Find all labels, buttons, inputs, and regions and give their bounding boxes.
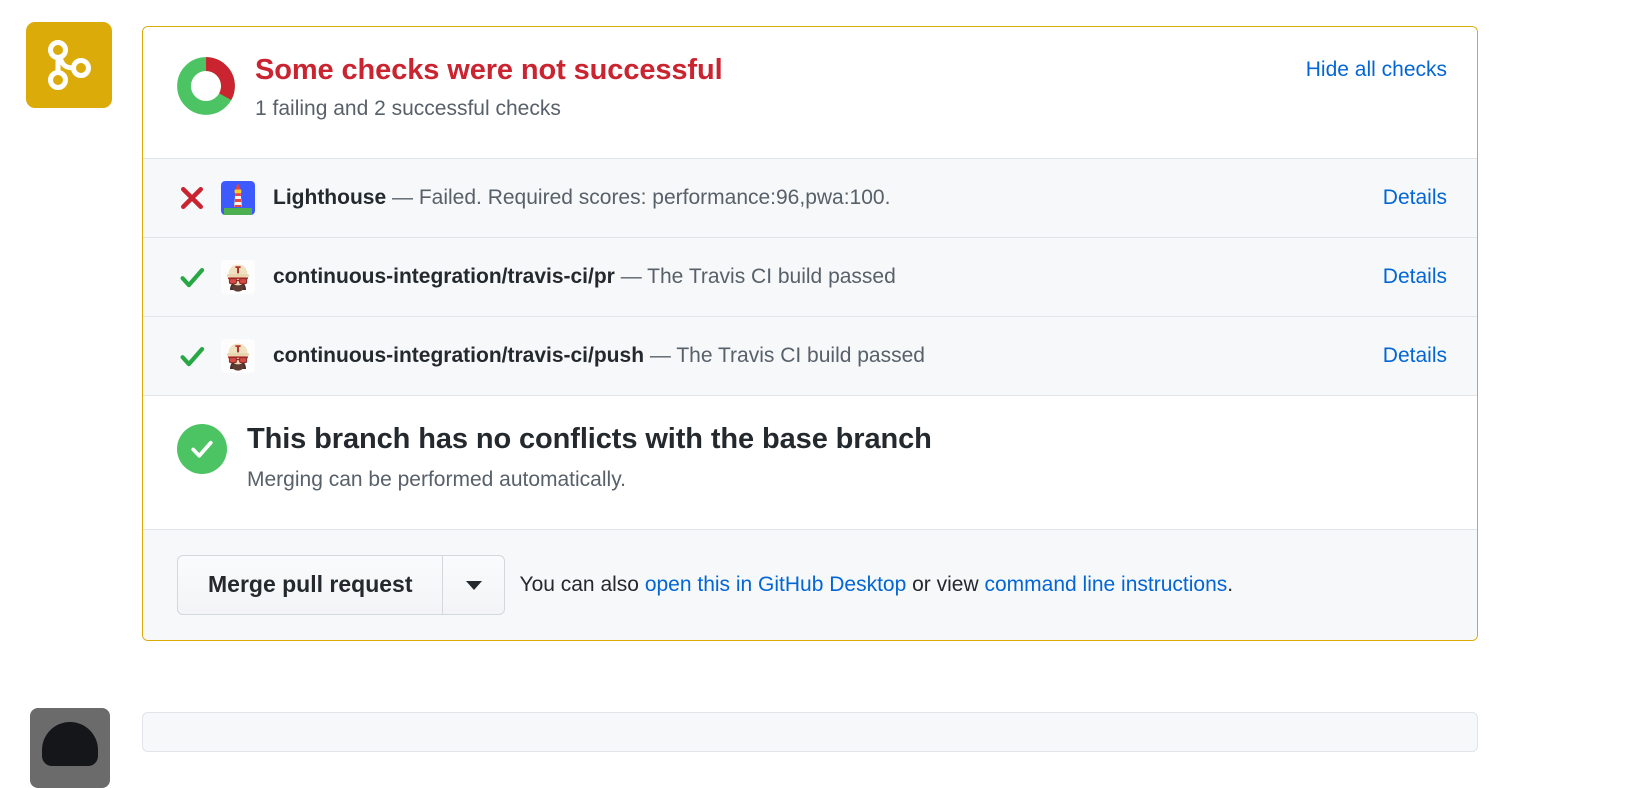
check-row: continuous-integration/travis-ci/push — …	[143, 317, 1477, 396]
conflicts-subtitle: Merging can be performed automatically.	[247, 467, 1447, 492]
donut-chart-icon	[177, 57, 235, 120]
check-details-link[interactable]: Details	[1383, 265, 1447, 289]
merge-pull-request-button[interactable]: Merge pull request	[177, 555, 443, 615]
check-row: continuous-integration/travis-ci/pr — Th…	[143, 238, 1477, 317]
command-line-instructions-link[interactable]: command line instructions	[984, 573, 1227, 596]
check-description: The Travis CI build passed	[676, 344, 925, 367]
lighthouse-avatar-icon	[221, 181, 255, 215]
branch-conflicts-section: This branch has no conflicts with the ba…	[143, 396, 1477, 530]
check-separator: —	[621, 265, 642, 288]
merge-alternatives-note: You can also open this in GitHub Desktop…	[519, 572, 1233, 598]
check-name: continuous-integration/travis-ci/push	[273, 344, 644, 367]
checks-status-subtitle: 1 failing and 2 successful checks	[255, 96, 1282, 121]
check-name: Lighthouse	[273, 186, 386, 209]
check-description: The Travis CI build passed	[647, 265, 896, 288]
next-comment-box	[142, 712, 1478, 752]
note-suffix: .	[1227, 573, 1233, 596]
merge-method-dropdown-button[interactable]	[443, 555, 505, 615]
check-description: Failed. Required scores: performance:96,…	[419, 186, 891, 209]
check-summary: Lighthouse — Failed. Required scores: pe…	[273, 185, 1359, 211]
conflicts-title: This branch has no conflicts with the ba…	[247, 422, 1447, 457]
checks-status-title: Some checks were not successful	[255, 53, 1282, 87]
git-pull-request-badge	[26, 22, 112, 108]
check-icon	[177, 262, 221, 292]
check-separator: —	[392, 186, 413, 209]
avatar-image	[42, 722, 98, 766]
open-in-github-desktop-link[interactable]: open this in GitHub Desktop	[645, 573, 906, 596]
x-icon	[177, 183, 221, 213]
merge-button-group: Merge pull request	[177, 555, 505, 615]
check-summary: continuous-integration/travis-ci/push — …	[273, 343, 1359, 369]
checks-header: Some checks were not successful 1 failin…	[143, 27, 1477, 159]
check-icon	[177, 341, 221, 371]
avatar[interactable]	[30, 708, 110, 788]
merge-status-box: Some checks were not successful 1 failin…	[142, 26, 1478, 641]
travis-ci-avatar-icon	[221, 260, 255, 294]
git-pull-request-icon	[45, 39, 93, 91]
check-circle-filled-icon	[177, 424, 227, 474]
check-row: Lighthouse — Failed. Required scores: pe…	[143, 159, 1477, 238]
merge-action-footer: Merge pull request You can also open thi…	[143, 530, 1477, 640]
check-separator: —	[650, 344, 671, 367]
check-name: continuous-integration/travis-ci/pr	[273, 265, 615, 288]
note-middle: or view	[906, 573, 984, 596]
check-details-link[interactable]: Details	[1383, 344, 1447, 368]
check-details-link[interactable]: Details	[1383, 186, 1447, 210]
hide-all-checks-link[interactable]: Hide all checks	[1306, 58, 1447, 82]
chevron-down-icon	[466, 581, 482, 590]
note-prefix: You can also	[519, 573, 644, 596]
check-summary: continuous-integration/travis-ci/pr — Th…	[273, 264, 1359, 290]
travis-ci-avatar-icon	[221, 339, 255, 373]
